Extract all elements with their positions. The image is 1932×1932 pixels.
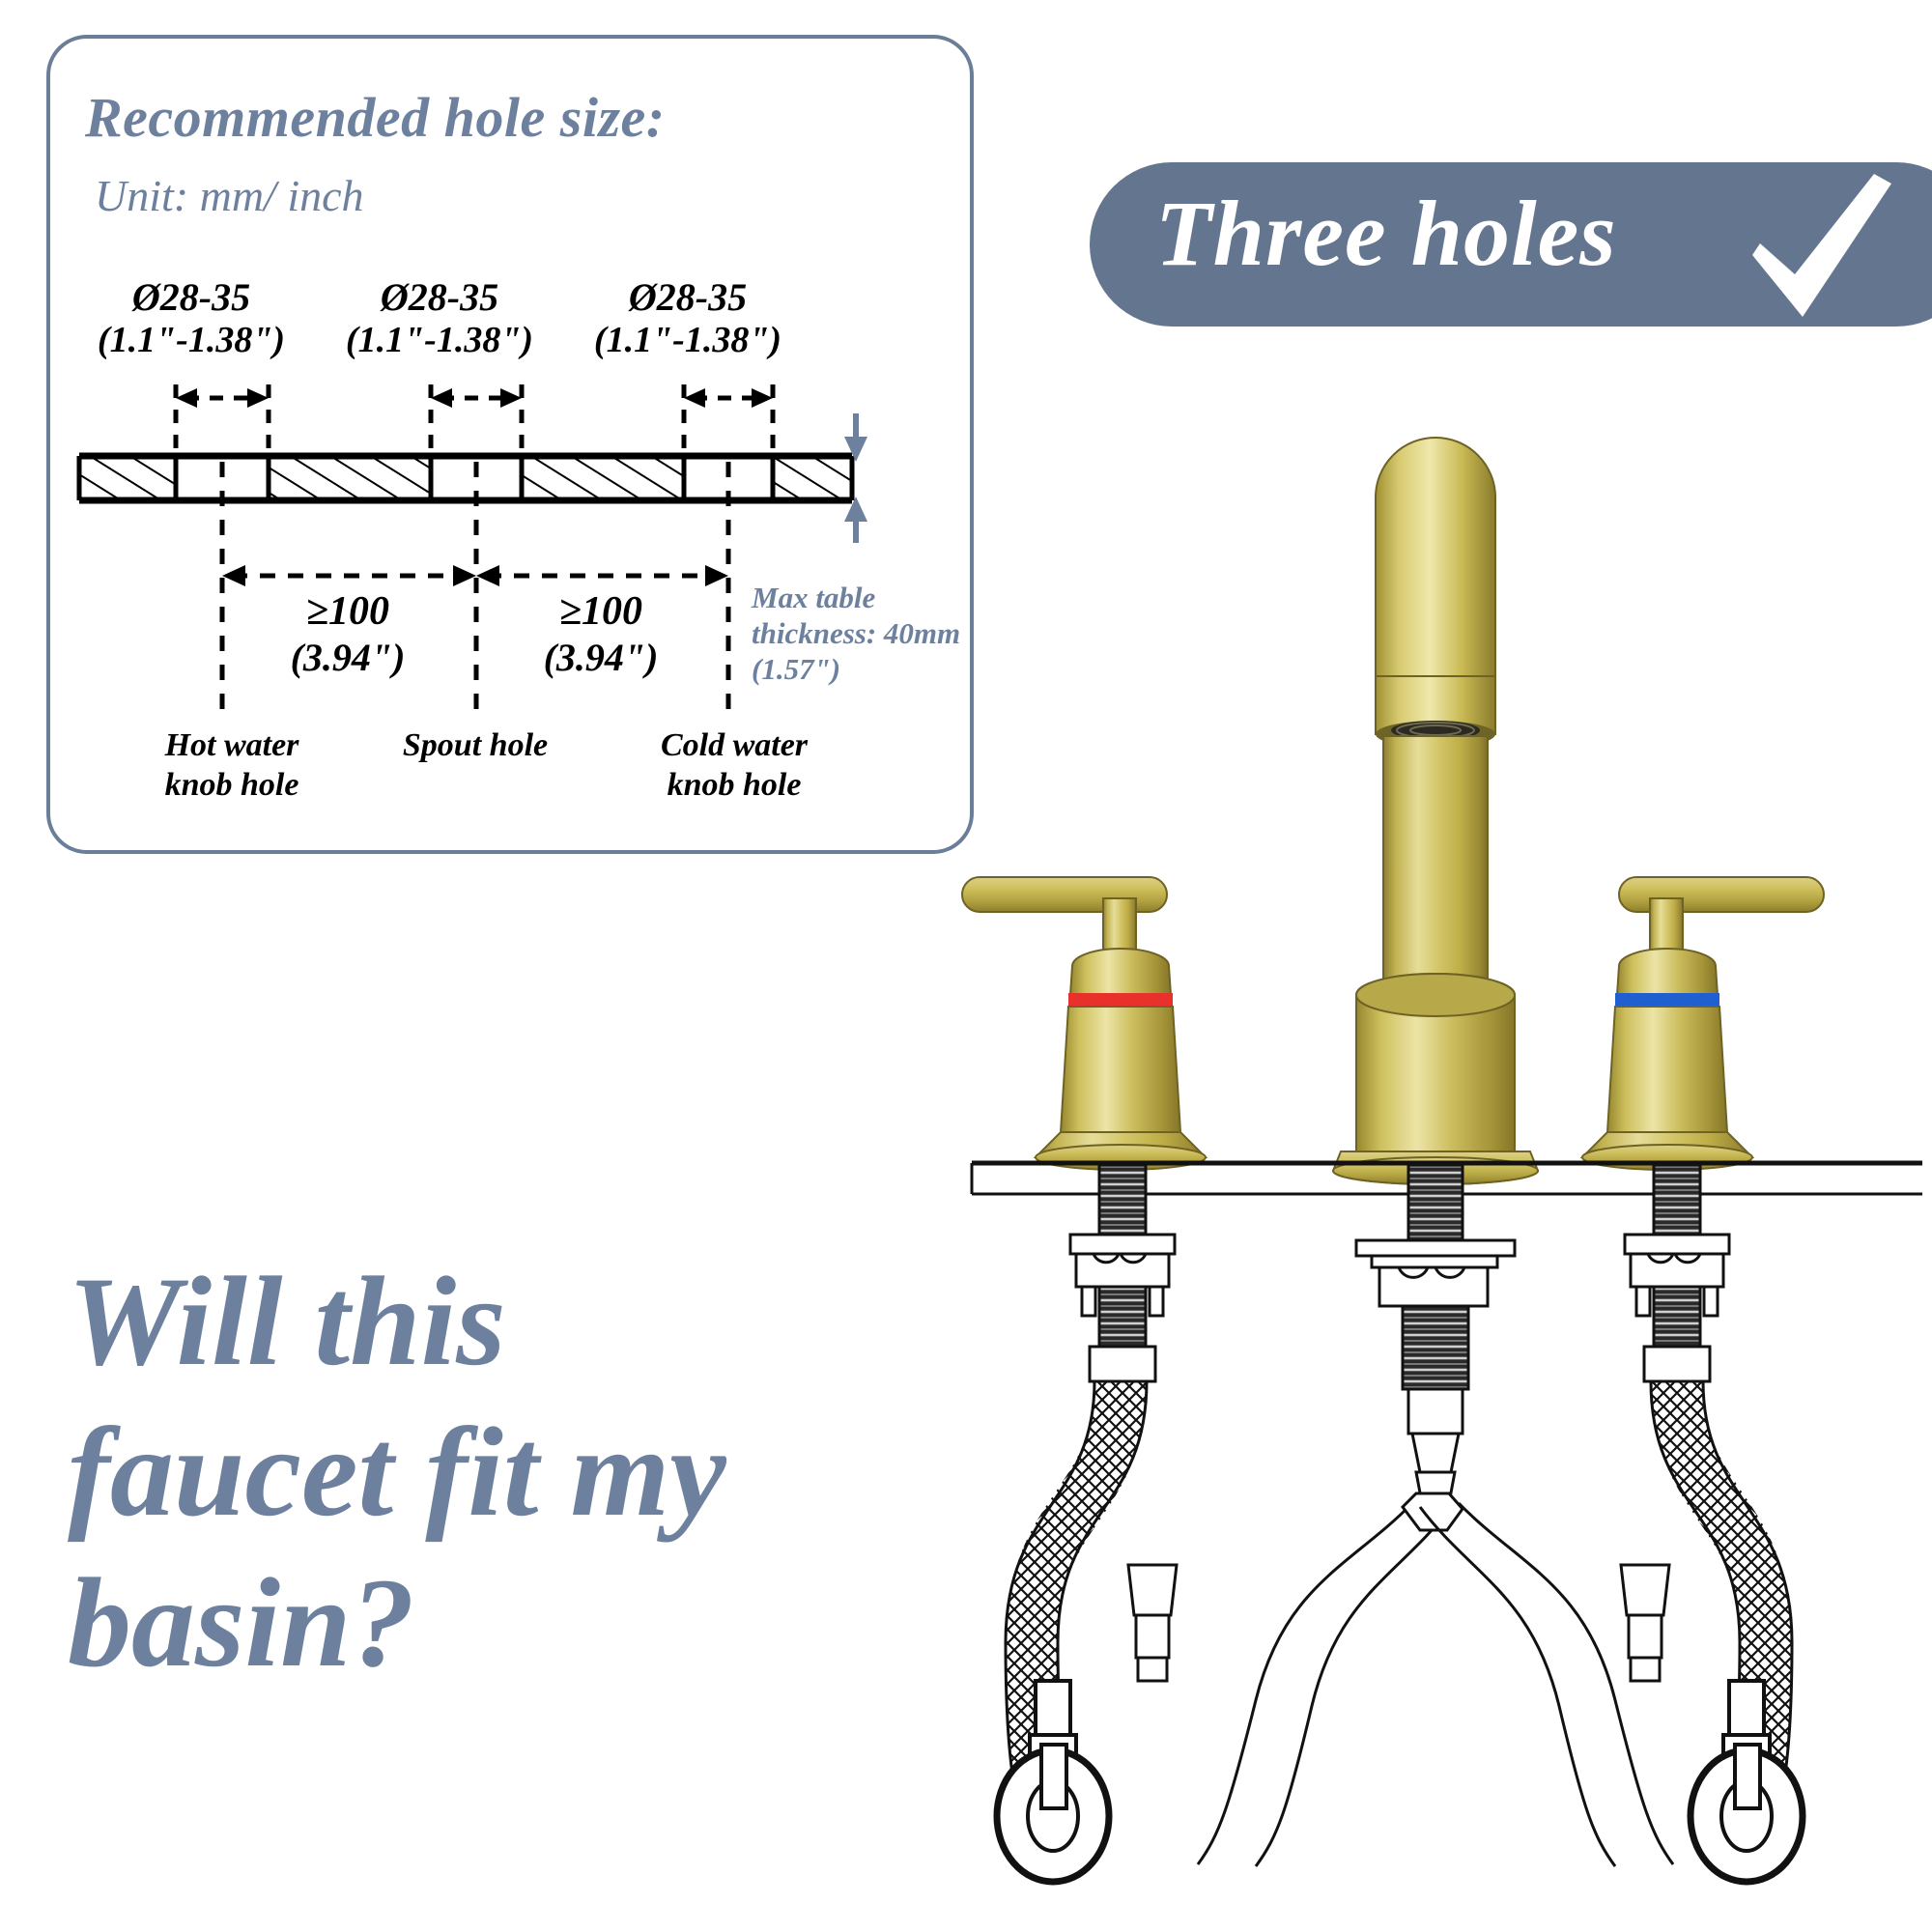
threaded-shank-center [1408, 1165, 1463, 1248]
center-hose-left [1198, 1493, 1463, 1866]
spout [1333, 438, 1538, 1184]
mounting-nut-center [1379, 1267, 1488, 1306]
center-hose-right [1420, 1503, 1673, 1866]
cold-handle [1582, 877, 1824, 1170]
hose-coupling-right [1621, 1565, 1669, 1681]
mounting-hardware [1070, 1165, 1729, 1503]
poster-canvas: Recommended hole size: Unit: mm/ inch Ø2… [0, 0, 1932, 1932]
faucet-product-illustration [0, 0, 1932, 1932]
hose-coupling-left [1128, 1565, 1177, 1681]
hot-handle [962, 877, 1206, 1170]
